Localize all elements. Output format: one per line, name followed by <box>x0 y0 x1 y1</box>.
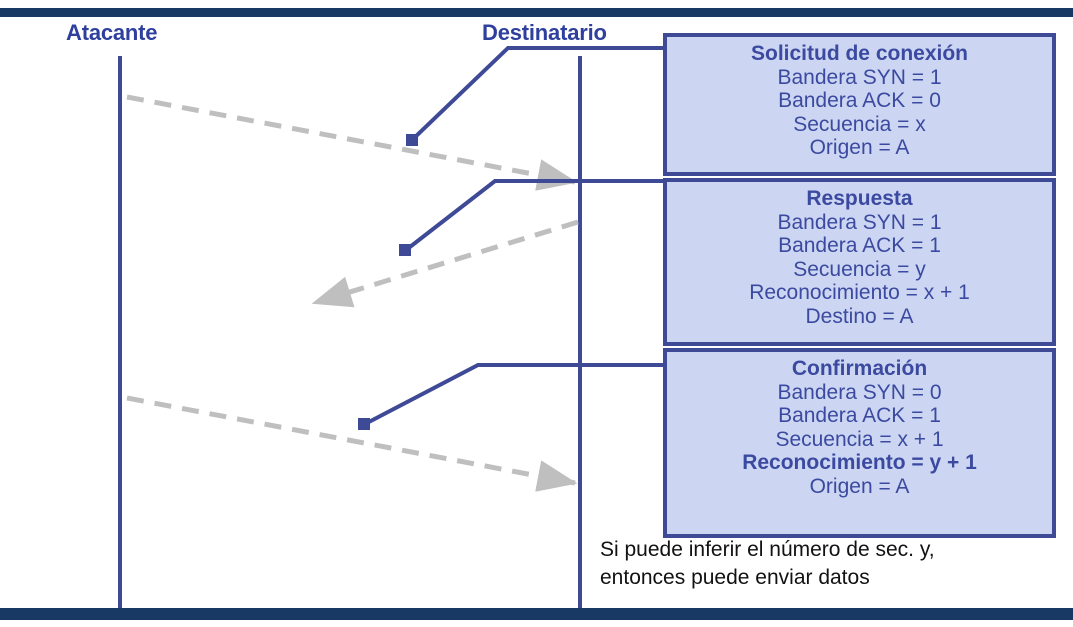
packet-title: Solicitud de conexión <box>667 42 1052 66</box>
diagram-slide: Atacante Destinatario Solicitud de conex… <box>0 0 1073 627</box>
callout-leader-1 <box>412 48 663 140</box>
packet-box-connection-request: Solicitud de conexión Bandera SYN = 1 Ba… <box>663 33 1056 176</box>
callout-marker-3 <box>358 418 370 430</box>
packet-field: Origen = A <box>667 136 1052 160</box>
packet-field: Secuencia = x <box>667 113 1052 137</box>
caption-line-1: Si puede inferir el número de sec. y, <box>600 536 1060 564</box>
caption-text: Si puede inferir el número de sec. y, en… <box>600 536 1060 593</box>
callout-leader-3 <box>365 365 663 424</box>
packet-field: Bandera SYN = 0 <box>667 381 1052 405</box>
packet-box-confirmation: Confirmación Bandera SYN = 0 Bandera ACK… <box>663 348 1056 538</box>
packet-title: Respuesta <box>667 187 1052 211</box>
packet-field: Reconocimiento = x + 1 <box>667 281 1052 305</box>
packet-field: Bandera SYN = 1 <box>667 211 1052 235</box>
packet-field-highlighted: Reconocimiento = y + 1 <box>667 451 1052 475</box>
packet-field: Bandera SYN = 1 <box>667 66 1052 90</box>
dashed-arrow-ack <box>127 398 575 483</box>
callout-leader-2 <box>406 181 663 250</box>
packet-field: Bandera ACK = 1 <box>667 404 1052 428</box>
packet-field: Secuencia = x + 1 <box>667 428 1052 452</box>
dashed-arrow-syn <box>127 97 575 182</box>
packet-field: Origen = A <box>667 475 1052 499</box>
packet-box-response: Respuesta Bandera SYN = 1 Bandera ACK = … <box>663 178 1056 346</box>
packet-field: Bandera ACK = 0 <box>667 89 1052 113</box>
callout-marker-2 <box>399 244 411 256</box>
packet-field: Secuencia = y <box>667 258 1052 282</box>
packet-title: Confirmación <box>667 357 1052 381</box>
callout-marker-1 <box>406 134 418 146</box>
packet-field: Bandera ACK = 1 <box>667 234 1052 258</box>
caption-line-2: entonces puede enviar datos <box>600 564 1060 592</box>
dashed-arrow-synack <box>314 222 578 303</box>
packet-field: Destino = A <box>667 305 1052 329</box>
